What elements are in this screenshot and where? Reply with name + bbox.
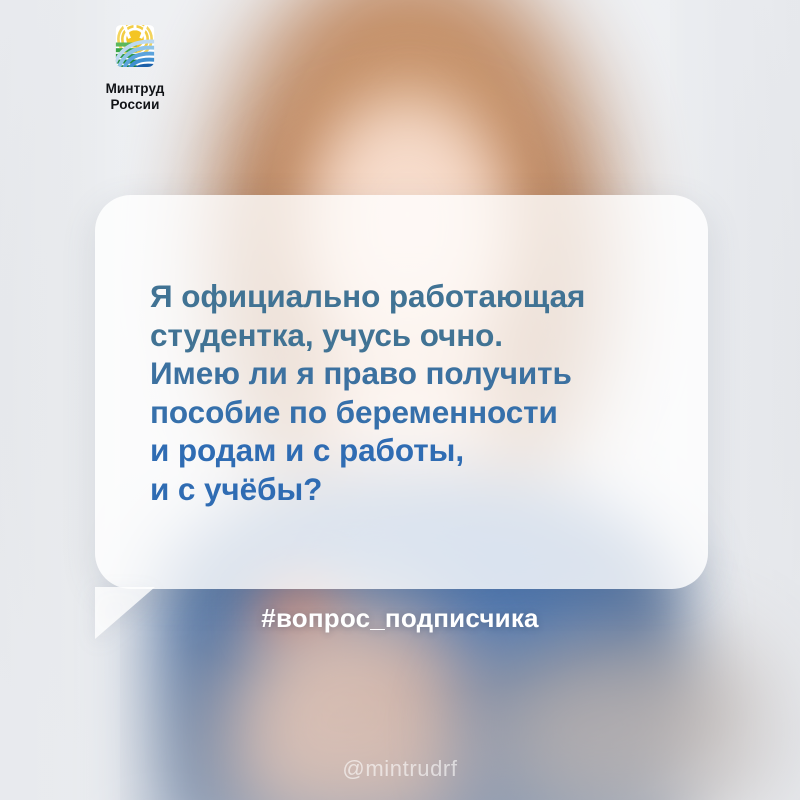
question-line-4: пособие по беременности <box>150 393 680 432</box>
question-text: Я официально работающая студентка, учусь… <box>150 277 680 508</box>
question-line-2: студентка, учусь очно. <box>150 316 680 355</box>
question-line-5: и родам и с работы, <box>150 431 680 470</box>
brand-logo-block: Минтруд России <box>80 18 190 114</box>
hashtag-label: #вопрос_подписчика <box>0 603 800 634</box>
question-line-6: и с учёбы? <box>150 470 680 509</box>
question-line-1: Я официально работающая <box>150 277 680 316</box>
poster-canvas: Минтруд России Я официально работающая с… <box>0 0 800 800</box>
account-watermark: @mintrudrf <box>0 756 800 782</box>
brand-name-label: Минтруд России <box>80 81 190 114</box>
question-line-3: Имею ли я право получить <box>150 354 680 393</box>
mintrud-logo-icon <box>107 18 163 74</box>
